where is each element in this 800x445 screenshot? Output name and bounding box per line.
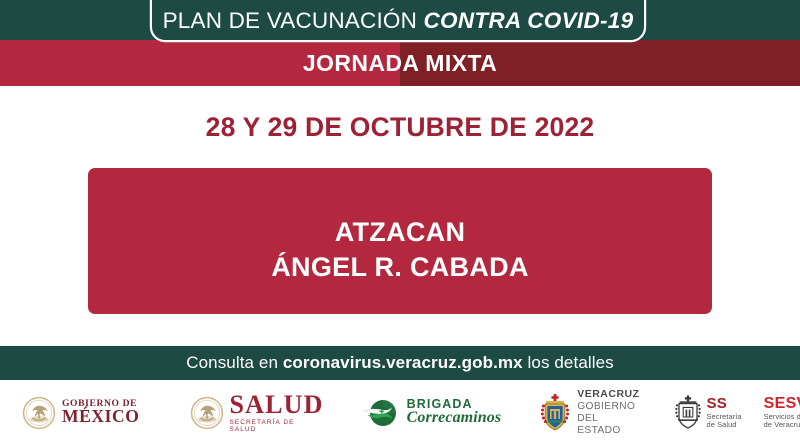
locations-panel: ATZACAN ÁNGEL R. CABADA <box>88 168 712 314</box>
sesver-text: SESVER Servicios de Salud de Veracruz <box>764 395 800 429</box>
logo-ss-secretaria-salud: SS Secretaría de Salud <box>674 394 742 432</box>
vaccination-poster: PLAN DE VACUNACIÓN CONTRA COVID-19 JORNA… <box>0 0 800 445</box>
header-title-tab: PLAN DE VACUNACIÓN CONTRA COVID-19 <box>152 0 644 40</box>
event-date: 28 Y 29 DE OCTUBRE DE 2022 <box>0 112 800 143</box>
header-subtitle: JORNADA MIXTA <box>303 50 497 77</box>
logo-brigada-correcaminos: BRIGADA Correcaminos <box>362 397 502 429</box>
gobierno-mexico-line-2: MÉXICO <box>62 408 140 426</box>
header-subtitle-wrap: JORNADA MIXTA <box>0 40 800 86</box>
salud-line-2: SECRETARÍA DE SALUD <box>230 420 324 433</box>
location-line-1: ATZACAN <box>271 215 529 250</box>
ss-line-1: SS <box>707 396 742 413</box>
header-title-emphasis: CONTRA COVID-19 <box>424 8 634 33</box>
footer-url[interactable]: coronavirus.veracruz.gob.mx <box>283 353 523 372</box>
ss-text: SS Secretaría de Salud <box>707 396 742 429</box>
mexico-eagle-seal-icon <box>22 396 56 430</box>
ss-line-3: de Salud <box>707 421 742 429</box>
logo-gobierno-mexico: GOBIERNO DE MÉXICO <box>22 396 140 430</box>
header-title-regular: PLAN DE VACUNACIÓN <box>163 8 424 33</box>
locations-text: ATZACAN ÁNGEL R. CABADA <box>271 215 529 284</box>
sesver-line-3: de Veracruz <box>764 421 800 429</box>
logo-salud: SALUD SECRETARÍA DE SALUD <box>190 392 324 433</box>
veracruz-text: VERACRUZ GOBIERNO DEL ESTADO <box>577 388 639 436</box>
gobierno-mexico-text: GOBIERNO DE MÉXICO <box>62 399 140 426</box>
mexico-eagle-seal-icon <box>190 396 224 430</box>
veracruz-coat-of-arms-icon <box>539 393 571 433</box>
brigada-text: BRIGADA Correcaminos <box>407 398 502 427</box>
veracruz-shield-icon <box>674 394 702 432</box>
sesver-line-1: SESVER <box>764 395 800 413</box>
location-line-2: ÁNGEL R. CABADA <box>271 250 529 285</box>
veracruz-line-3: DEL ESTADO <box>577 413 639 437</box>
veracruz-line-1: VERACRUZ <box>577 388 639 400</box>
footer-suffix: los detalles <box>523 353 614 372</box>
salud-line-1: SALUD <box>230 392 324 418</box>
logo-bar: GOBIERNO DE MÉXICO SALUD SECRETARÍA DE S… <box>0 380 800 445</box>
salud-text: SALUD SECRETARÍA DE SALUD <box>230 392 324 433</box>
brigada-line-2: Correcaminos <box>407 410 502 427</box>
poster-header: PLAN DE VACUNACIÓN CONTRA COVID-19 JORNA… <box>0 0 800 86</box>
footer-info-text: Consulta en coronavirus.veracruz.gob.mx … <box>186 353 614 373</box>
footer-prefix: Consulta en <box>186 353 283 372</box>
footer-info-bar: Consulta en coronavirus.veracruz.gob.mx … <box>0 346 800 380</box>
logo-sesver: SESVER Servicios de Salud de Veracruz <box>764 395 800 429</box>
header-title: PLAN DE VACUNACIÓN CONTRA COVID-19 <box>163 10 634 33</box>
logo-veracruz-estado: VERACRUZ GOBIERNO DEL ESTADO <box>539 388 639 436</box>
veracruz-line-2: GOBIERNO <box>577 401 639 413</box>
roadrunner-bird-icon <box>362 397 400 429</box>
